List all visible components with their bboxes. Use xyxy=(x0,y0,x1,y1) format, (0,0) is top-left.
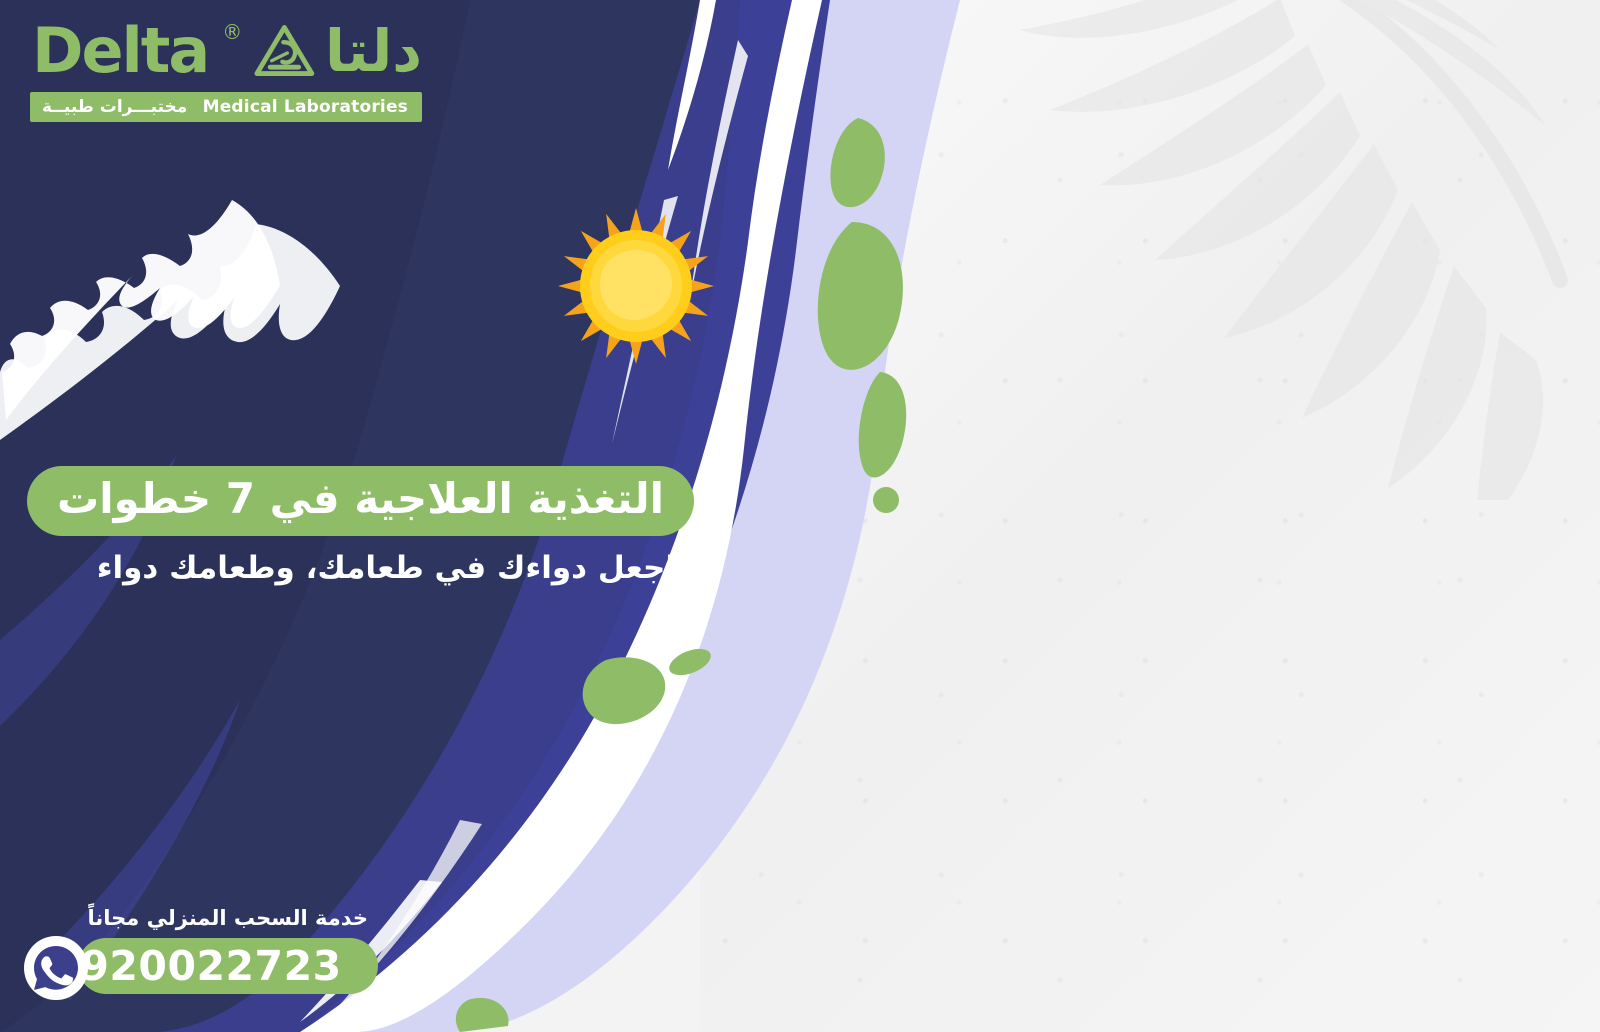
headline-badge: التغذية العلاجية في 7 خطوات xyxy=(27,466,694,536)
logo-tagline-bar: Medical Laboratories مختبـــرات طبيــة xyxy=(30,92,422,122)
palm-frond-watermark xyxy=(960,0,1600,500)
logo-tagline-en: Medical Laboratories xyxy=(203,97,408,117)
logo-tagline-ar: مختبـــرات طبيــة xyxy=(42,97,187,117)
logo-row: Delta ® دلتا xyxy=(22,14,422,88)
phone-pill[interactable]: 920022723 xyxy=(78,938,378,994)
microscope-triangle-icon xyxy=(254,24,315,78)
page-title: التغذية العلاجية في 7 خطوات xyxy=(57,475,664,523)
phone-number: 920022723 xyxy=(80,942,341,990)
brand-logo[interactable]: Delta ® دلتا Medical Laboratories مختبــ… xyxy=(22,14,422,122)
registered-trademark-icon: ® xyxy=(222,20,242,44)
sun-icon xyxy=(556,206,716,366)
stethoscope-icon xyxy=(1570,195,1600,895)
poster-canvas: Delta ® دلتا Medical Laboratories مختبــ… xyxy=(0,0,1600,1032)
contact-row[interactable]: 920022723 xyxy=(18,936,378,998)
home-collection-note: خدمة السحب المنزلي مجاناً xyxy=(18,906,378,930)
contact-block: خدمة السحب المنزلي مجاناً 920022723 xyxy=(18,906,378,998)
logo-arabic-wordmark: دلتا xyxy=(325,22,422,80)
logo-wordmark: Delta xyxy=(32,20,208,82)
hero-subtitle: اجعل دواءك في طعامك، وطعامك دواء xyxy=(74,550,694,586)
whatsapp-icon[interactable] xyxy=(22,934,90,1002)
hero-text-block: التغذية العلاجية في 7 خطوات اجعل دواءك ف… xyxy=(74,466,694,586)
